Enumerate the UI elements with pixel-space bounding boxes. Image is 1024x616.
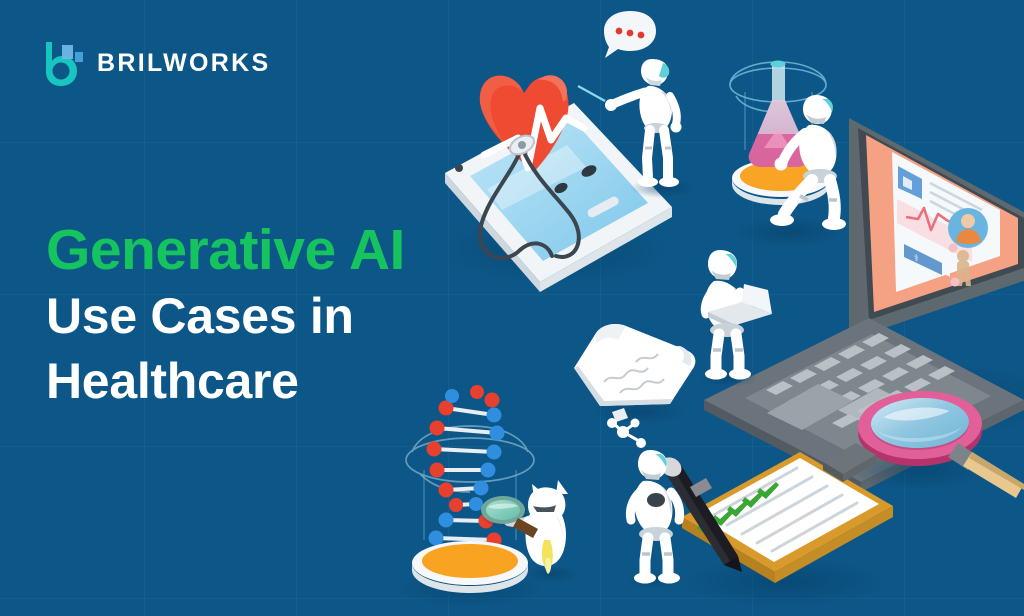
banner-root: ⚕ — [0, 0, 1024, 616]
robot-analyst — [697, 250, 772, 387]
prescription-scroll — [574, 324, 695, 425]
page-title: Generative AI Use Cases in Healthcare — [46, 216, 516, 414]
svg-text:⚕: ⚕ — [914, 253, 919, 263]
brand-logo[interactable]: BRILWORKS — [40, 38, 270, 88]
robot-reviewer — [607, 418, 685, 589]
headline-line-1: Generative AI — [46, 216, 516, 284]
chat-bubble — [604, 11, 656, 58]
headline-line-3: Healthcare — [46, 349, 516, 414]
brand-name: BRILWORKS — [97, 51, 270, 76]
robot-chemist-scene — [730, 61, 848, 249]
brilworks-b-logo-icon — [40, 38, 86, 88]
headline-line-2: Use Cases in — [46, 284, 516, 349]
hologram-rings-dna — [406, 426, 534, 492]
